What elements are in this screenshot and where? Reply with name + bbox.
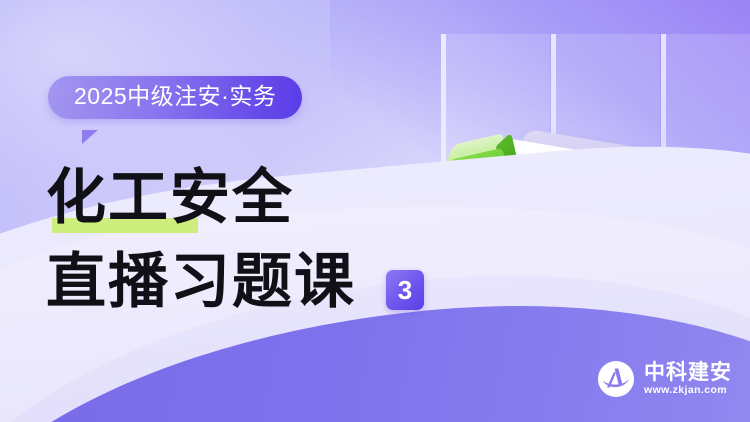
page-title-line-1: 化工安全 — [46, 168, 294, 228]
brand-logo: 中科建安 www.zkjan.com — [597, 360, 732, 398]
play-triangle-icon — [472, 173, 491, 195]
course-promo-banner: 2025中级注安·实务 化工安全 直播习题课 3 中科建安 www.zkjan.… — [0, 0, 750, 422]
brand-url: www.zkjan.com — [644, 385, 732, 396]
course-category-badge: 2025中级注安·实务 — [48, 76, 302, 119]
badge-tail — [82, 130, 98, 144]
brand-name: 中科建安 — [644, 362, 732, 383]
brand-logo-text: 中科建安 www.zkjan.com — [644, 362, 732, 396]
episode-number-badge: 3 — [386, 270, 424, 310]
zk-circle-logo-icon — [597, 360, 635, 398]
page-title-line-2: 直播习题课 — [46, 252, 356, 312]
